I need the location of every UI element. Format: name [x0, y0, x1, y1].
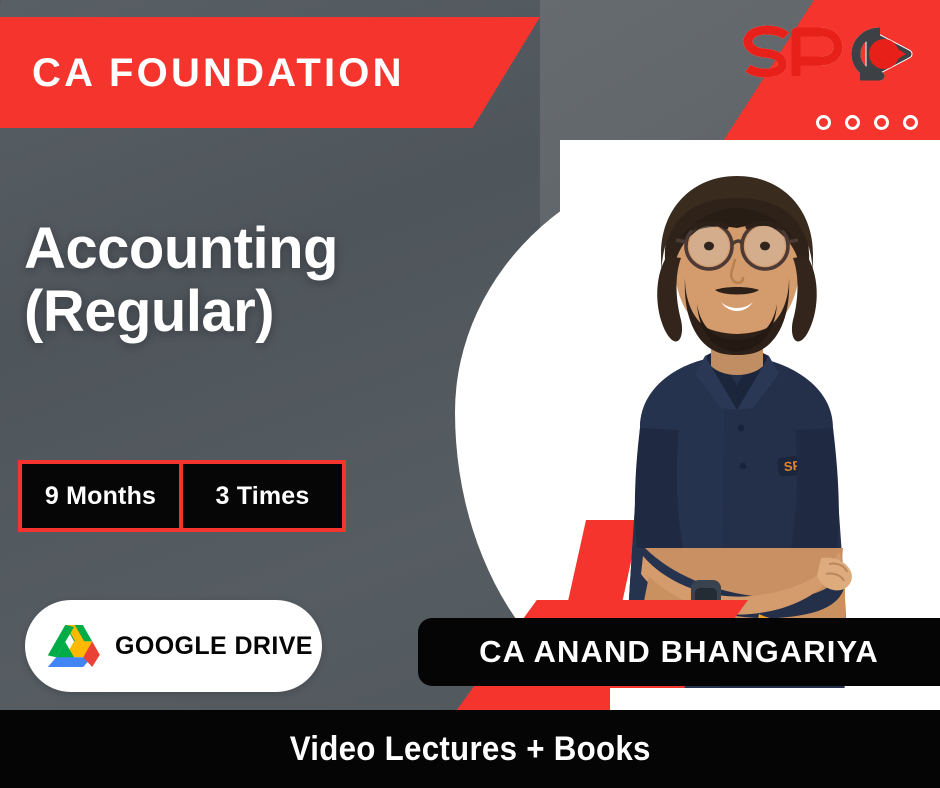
footer-label: Video Lectures + Books — [289, 730, 650, 769]
spc-logo — [734, 14, 924, 92]
course-level-banner: CA FOUNDATION — [0, 17, 540, 128]
course-title: Accounting (Regular) — [24, 218, 454, 343]
instructor-name: CA ANAND BHANGARIYA — [479, 634, 879, 670]
instructor-name-bar: CA ANAND BHANGARIYA — [418, 618, 940, 686]
course-poster: SPC — [0, 0, 940, 788]
badge-duration: 9 Months — [18, 460, 181, 532]
google-drive-icon — [47, 622, 101, 670]
course-title-line-2: (Regular) — [24, 281, 454, 344]
white-strip-bottom-right — [610, 688, 940, 712]
delivery-mode-pill: GOOGLE DRIVE — [25, 600, 322, 692]
course-title-line-1: Accounting — [24, 216, 338, 281]
course-level-label: CA FOUNDATION — [0, 53, 405, 93]
course-meta-badges: 9 Months 3 Times — [18, 460, 346, 532]
badge-views: 3 Times — [181, 460, 346, 532]
footer-bar: Video Lectures + Books — [0, 710, 940, 788]
delivery-mode-label: GOOGLE DRIVE — [115, 632, 313, 661]
